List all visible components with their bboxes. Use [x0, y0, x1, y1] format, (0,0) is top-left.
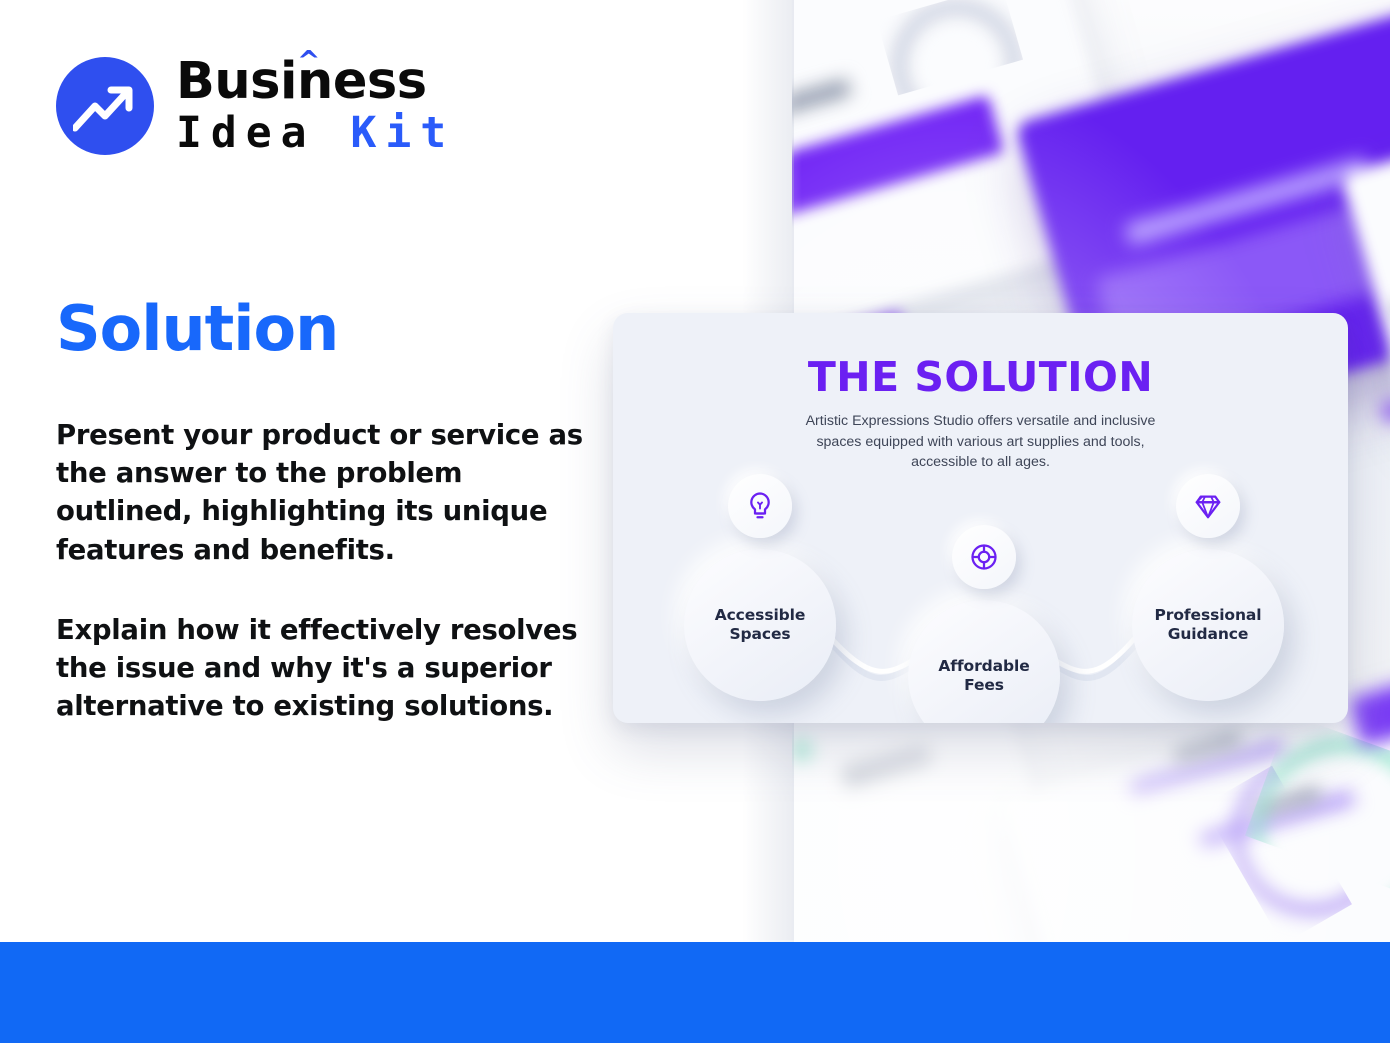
solution-item-accessible-spaces[interactable]: Accessible Spaces [684, 549, 836, 701]
diamond-icon-bubble [1176, 474, 1240, 538]
solution-item-label-line2: Spaces [729, 625, 790, 643]
brand-name-kit: Kit [350, 108, 455, 158]
body-copy: Present your product or service as the a… [56, 416, 596, 726]
footer-band [0, 942, 1390, 1043]
solution-item-label-line2: Fees [964, 676, 1004, 694]
solution-card: THE SOLUTION Artistic Expressions Studio… [613, 313, 1348, 723]
diamond-icon [1193, 491, 1223, 521]
lightbulb-icon [745, 491, 775, 521]
brand-wordmark: Business ^ Idea Kit [176, 56, 455, 155]
brand-logo[interactable]: Business ^ Idea Kit [56, 56, 455, 155]
bg-dot [1382, 400, 1390, 422]
solution-item-label-line1: Affordable [938, 657, 1029, 675]
circumflex-accent-icon: ^ [297, 47, 320, 75]
footer-band-highlight [0, 940, 1390, 942]
solution-item-label-line1: Professional [1155, 606, 1262, 624]
brand-name-idea: Idea [176, 108, 350, 158]
paragraph-1: Present your product or service as the a… [56, 416, 596, 569]
lifebuoy-icon [969, 542, 999, 572]
solution-item-label: Affordable Fees [938, 657, 1029, 695]
brand-name-line2: Idea Kit [176, 112, 455, 155]
bg-dot [792, 740, 812, 760]
solution-item-label: Accessible Spaces [715, 606, 806, 644]
paragraph-2: Explain how it effectively resolves the … [56, 611, 596, 726]
trending-up-arrow-icon [56, 57, 154, 155]
solution-item-professional-guidance[interactable]: Professional Guidance [1132, 549, 1284, 701]
lifebuoy-icon-bubble [952, 525, 1016, 589]
solution-item-label-line2: Guidance [1168, 625, 1249, 643]
brand-name-line1: Business ^ [176, 56, 455, 107]
solution-item-label-line1: Accessible [715, 606, 806, 624]
slide-root: Business ^ Idea Kit Solution Present you… [0, 0, 1390, 1043]
solution-item-label: Professional Guidance [1155, 606, 1262, 644]
lightbulb-icon-bubble [728, 474, 792, 538]
page-title: Solution [56, 296, 338, 361]
